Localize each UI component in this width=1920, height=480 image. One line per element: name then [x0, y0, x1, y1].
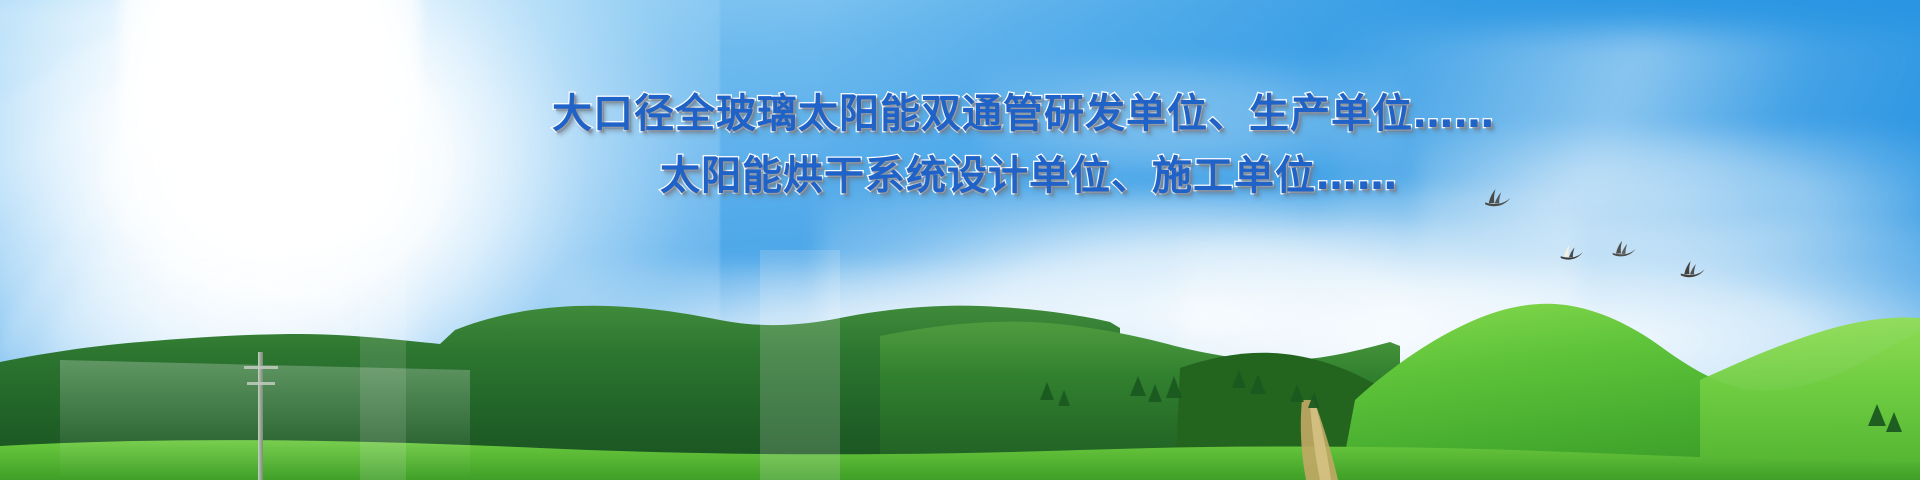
- hero-banner: 大口径全玻璃太阳能双通管研发单位、生产单位…… 太阳能烘干系统设计单位、施工单位…: [0, 0, 1920, 480]
- sunbeam-on-hills: [760, 250, 840, 480]
- cloud-haze-upper: [980, 60, 1400, 180]
- ridge-light-haze: [60, 360, 470, 480]
- utility-pole: [258, 352, 263, 480]
- sunbeam-on-hills-2: [360, 250, 406, 480]
- utility-pole-crossarm-upper: [244, 366, 278, 369]
- utility-pole-crossarm-lower: [247, 382, 275, 385]
- hills-illustration: [0, 250, 1920, 480]
- landscape: [0, 250, 1920, 480]
- hill-far-right: [1700, 318, 1920, 480]
- sun-core-icon: [120, 0, 420, 170]
